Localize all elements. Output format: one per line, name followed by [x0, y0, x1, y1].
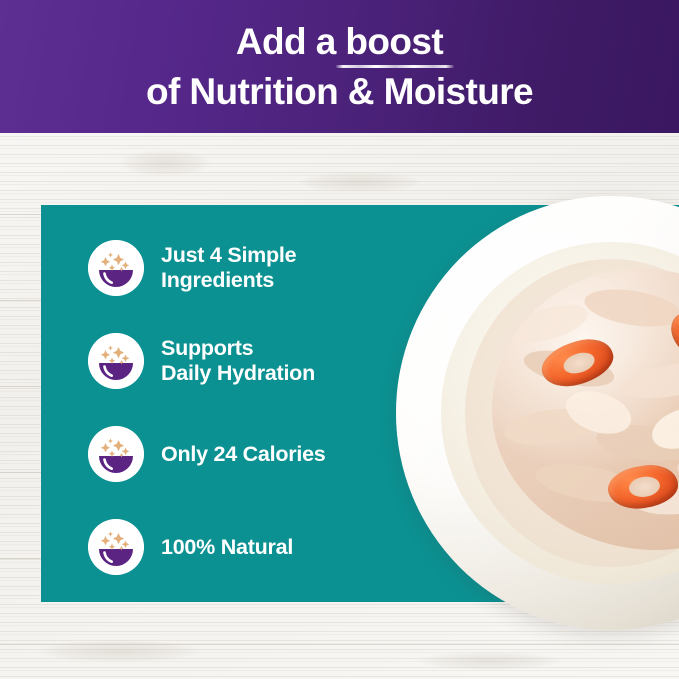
sparkling-bowl-icon-svg [88, 426, 144, 482]
wood-grain-knot [420, 652, 560, 670]
product-photo-bowl [396, 196, 679, 630]
wood-grain-knot [40, 640, 200, 662]
boost-underline [336, 65, 454, 68]
wood-grain-knot [300, 172, 420, 192]
sparkling-bowl-icon [88, 240, 144, 296]
headline-line-1-text: Add a boost [236, 21, 443, 62]
sparkling-bowl-icon [88, 519, 144, 575]
sparkling-bowl-icon [88, 333, 144, 389]
product-feature-image: Add a boost of Nutrition & Moisture [0, 0, 679, 679]
benefit-label: Supports Daily Hydration [161, 336, 315, 386]
wood-grain-knot [120, 150, 210, 176]
benefit-item: 100% Natural [88, 511, 388, 583]
benefit-label: Only 24 Calories [161, 442, 326, 467]
benefits-list: Just 4 Simple Ingredients Supports Daily… [88, 232, 388, 583]
shrimp-highlight [561, 349, 598, 377]
benefit-item: Only 24 Calories [88, 418, 388, 490]
fish-shred [582, 284, 679, 333]
sparkling-bowl-icon-svg [88, 519, 144, 575]
shrimp-highlight [628, 474, 661, 498]
header-banner: Add a boost of Nutrition & Moisture [0, 0, 679, 133]
benefit-label: Just 4 Simple Ingredients [161, 243, 296, 293]
headline-line-2: of Nutrition & Moisture [146, 70, 533, 113]
sparkling-bowl-icon-svg [88, 240, 144, 296]
benefit-item: Just 4 Simple Ingredients [88, 232, 388, 304]
headline-line-1: Add a boost [236, 20, 443, 63]
sparkling-bowl-icon-svg [88, 333, 144, 389]
benefit-item: Supports Daily Hydration [88, 325, 388, 397]
sparkling-bowl-icon [88, 426, 144, 482]
fish-shred [619, 356, 679, 405]
benefit-label: 100% Natural [161, 535, 293, 560]
